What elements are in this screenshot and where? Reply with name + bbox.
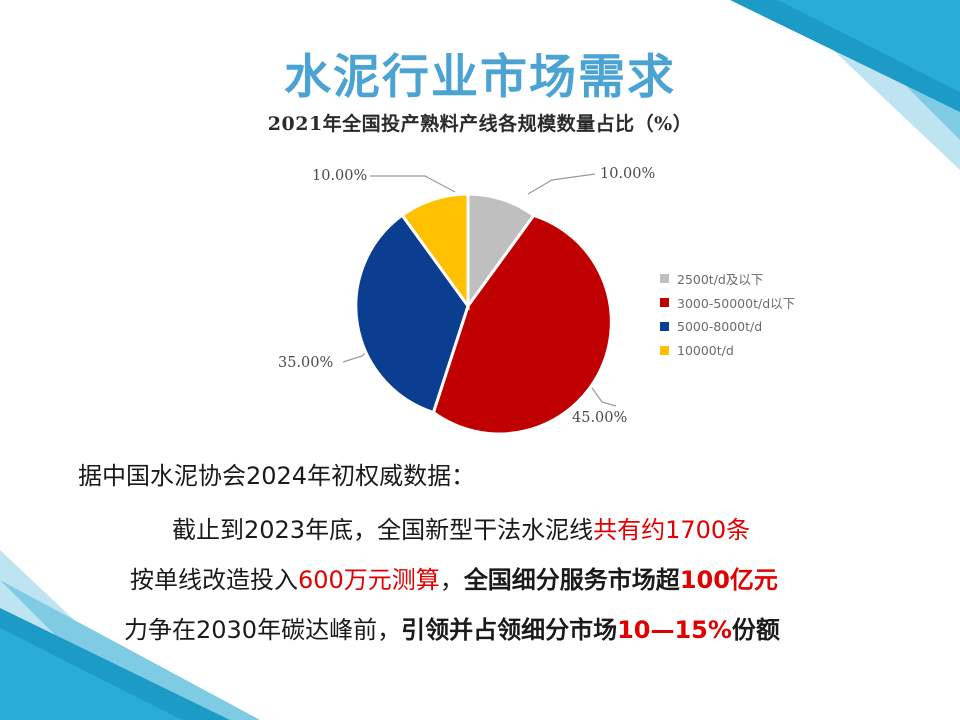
body-line-2: 截止到2023年底，全国新型干法水泥线共有约1700条 [0, 514, 960, 546]
legend-swatch-icon [660, 274, 669, 283]
pie-label-2500td: 10.00% [600, 166, 655, 182]
pie-label-3000-50000td: 45.00% [572, 410, 627, 426]
body-line-2-lead: 截止到2023年底，全国新型干法水泥线 [172, 516, 593, 544]
pie-slices [356, 194, 611, 434]
leader-line-yellow [370, 176, 455, 192]
legend-swatch-icon [660, 298, 669, 307]
legend-item-10000td[interactable]: 10000t/d [660, 338, 860, 362]
pie-chart: 10.00% 10.00% 35.00% 45.00% [250, 150, 720, 440]
legend-swatch-icon [660, 346, 669, 355]
body-line-1-text: 据中国水泥协会2024年初权威数据： [78, 462, 475, 490]
body-line-3: 按单线改造投入600万元测算，全国细分服务市场超100亿元 [0, 564, 960, 596]
pie-label-10000td: 10.00% [312, 168, 367, 184]
body-line-3-market: 全国细分服务市场超 [464, 566, 680, 594]
body-line-2-highlight: 共有约1700条 [593, 516, 750, 544]
body-line-1: 据中国水泥协会2024年初权威数据： [0, 460, 960, 492]
pie-chart-svg: 10.00% 10.00% 35.00% 45.00% [250, 150, 720, 440]
slide-canvas: 水泥行业市场需求 2021年全国投产熟料产线各规模数量占比（%） 10.0 [0, 0, 960, 720]
pie-label-5000-8000td: 35.00% [278, 355, 333, 371]
legend-item-3000-50000td[interactable]: 3000-50000t/d以下 [660, 290, 860, 314]
legend-label: 10000t/d [677, 343, 734, 358]
legend-label: 2500t/d及以下 [677, 269, 763, 288]
body-line-3-comma: ， [440, 566, 464, 594]
legend-item-5000-8000td[interactable]: 5000-8000t/d [660, 314, 860, 338]
legend-swatch-icon [660, 322, 669, 331]
slide-header: 水泥行业市场需求 2021年全国投产熟料产线各规模数量占比（%） [0, 52, 960, 136]
body-line-3-amount: 100亿元 [680, 566, 778, 594]
body-line-3-cost: 600万元测算 [298, 566, 440, 594]
leader-line-gray [528, 174, 595, 194]
page-title: 水泥行业市场需求 [0, 52, 960, 105]
legend-item-2500td[interactable]: 2500t/d及以下 [660, 266, 860, 290]
body-line-4-lead: 力争在2030年碳达峰前， [124, 616, 401, 644]
body-text-block: 据中国水泥协会2024年初权威数据： 截止到2023年底，全国新型干法水泥线共有… [0, 460, 960, 647]
body-line-3-lead: 按单线改造投入 [130, 566, 298, 594]
legend-label: 5000-8000t/d [677, 319, 762, 334]
body-line-4: 力争在2030年碳达峰前，引领并占领细分市场10—15%份额 [0, 614, 960, 646]
legend-label: 3000-50000t/d以下 [677, 293, 795, 312]
body-line-4-goal: 引领并占领细分市场 [401, 616, 617, 644]
chart-legend: 2500t/d及以下 3000-50000t/d以下 5000-8000t/d … [660, 266, 860, 362]
body-line-4-share: 10—15% [617, 616, 732, 644]
chart-title: 2021年全国投产熟料产线各规模数量占比（%） [0, 109, 960, 136]
body-line-4-tail: 份额 [732, 616, 780, 644]
